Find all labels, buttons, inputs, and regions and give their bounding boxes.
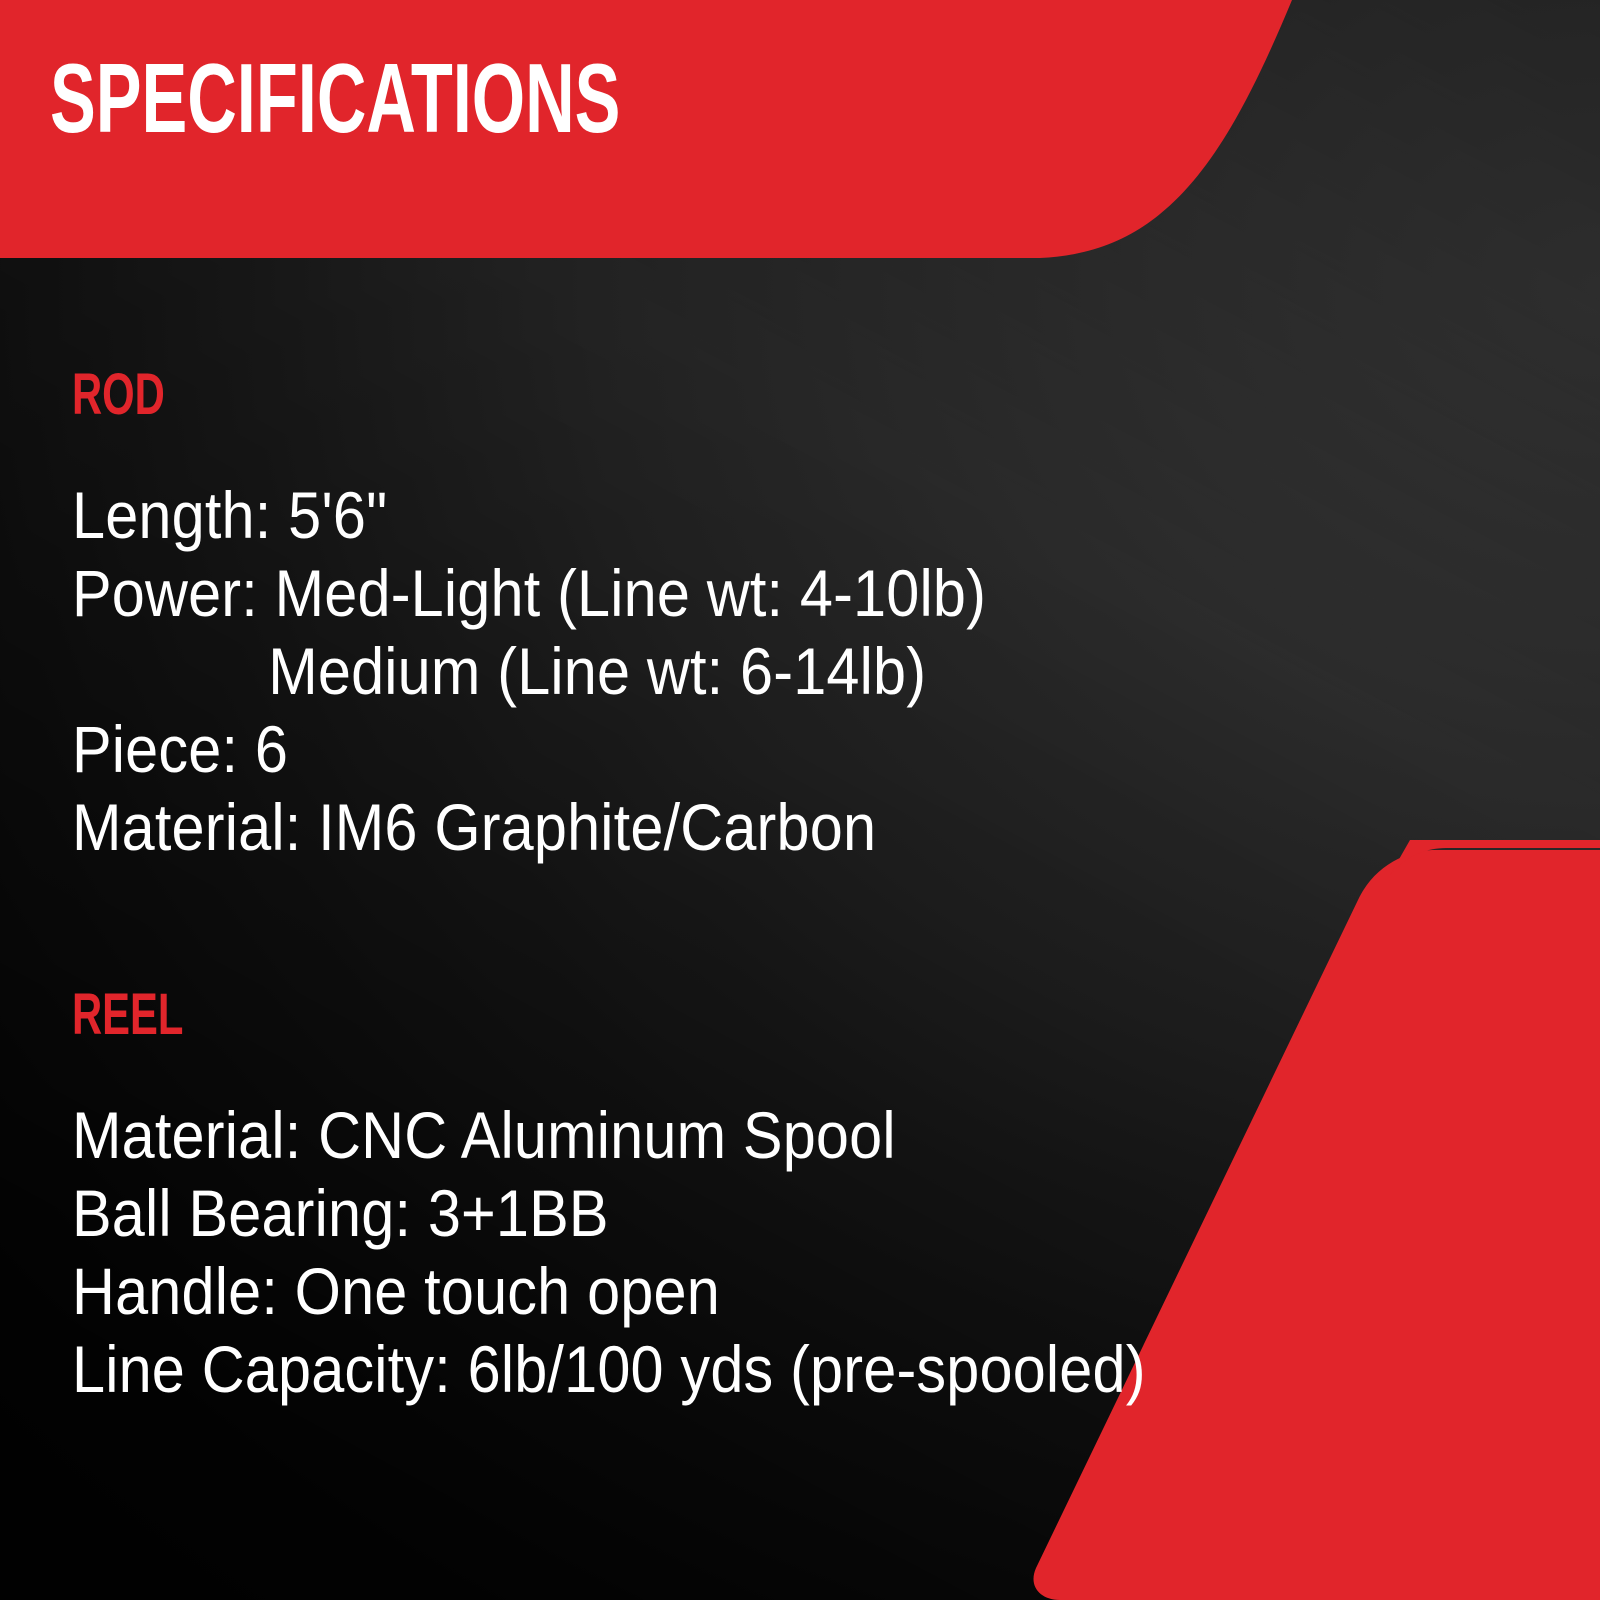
spec-line: Power: Med-Light (Line wt: 4-10lb) xyxy=(72,554,986,632)
section-heading-reel: REEL xyxy=(72,986,931,1044)
section-heading-rod: ROD xyxy=(72,366,803,424)
spec-content: ROD Length: 5'6" Power: Med-Light (Line … xyxy=(0,0,1600,1600)
spec-line: Handle: One touch open xyxy=(72,1252,1146,1330)
spec-line: Material: IM6 Graphite/Carbon xyxy=(72,788,986,866)
section-rod: ROD Length: 5'6" Power: Med-Light (Line … xyxy=(72,366,1088,866)
spec-list-reel: Material: CNC Aluminum Spool Ball Bearin… xyxy=(72,1096,1265,1408)
spec-line: Length: 5'6" xyxy=(72,476,986,554)
spec-line: Piece: 6 xyxy=(72,710,986,788)
section-reel: REEL Material: CNC Aluminum Spool Ball B… xyxy=(72,986,1265,1408)
specifications-page: SPECIFICATIONS ROD Length: 5'6" Power: M… xyxy=(0,0,1600,1600)
spec-line: Ball Bearing: 3+1BB xyxy=(72,1174,1146,1252)
spec-line: Material: CNC Aluminum Spool xyxy=(72,1096,1146,1174)
spec-line: Medium (Line wt: 6-14lb) xyxy=(72,632,986,710)
spec-line: Line Capacity: 6lb/100 yds (pre-spooled) xyxy=(72,1330,1146,1408)
spec-list-rod: Length: 5'6" Power: Med-Light (Line wt: … xyxy=(72,476,1088,866)
